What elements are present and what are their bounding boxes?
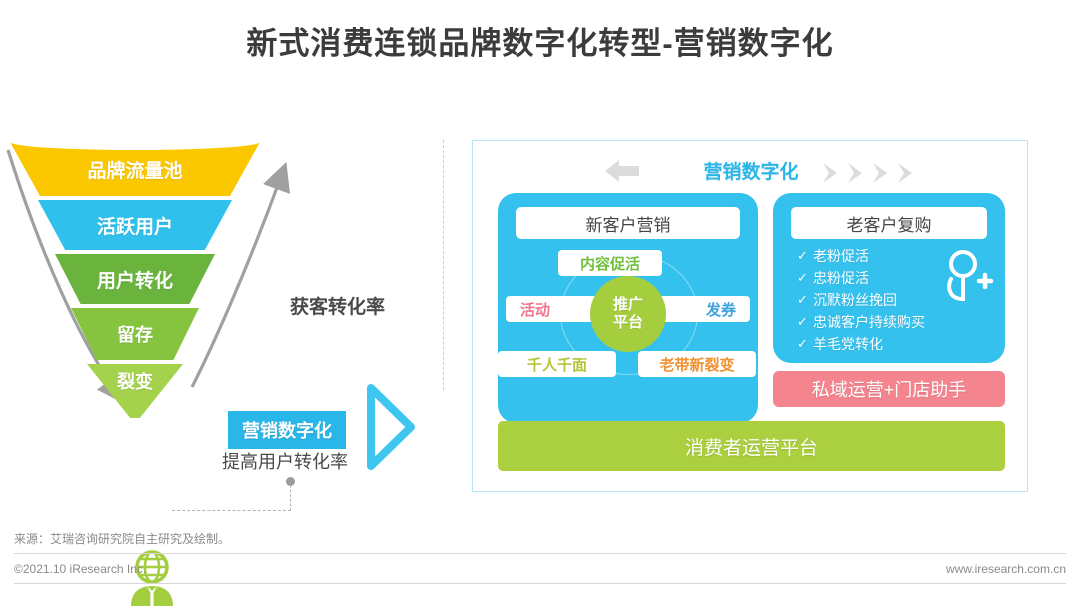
funnel-layer-brand-pool: 品牌流量池 xyxy=(10,142,260,196)
hub-line-1: 推广 xyxy=(613,296,643,314)
conversion-funnel: 品牌流量池 活跃用户 用户转化 留存 裂变 xyxy=(10,142,260,417)
list-item-label: 忠粉促活 xyxy=(813,268,869,288)
check-icon: ✓ xyxy=(797,292,813,308)
funnel-layer-retention: 留存 xyxy=(71,308,199,360)
list-item-label: 忠诚客户持续购买 xyxy=(813,312,925,332)
infographic-page: 新式消费连锁品牌数字化转型-营销数字化 品牌流量池 活跃用户 用户转化 留存 裂… xyxy=(0,0,1080,591)
connector-line-vertical xyxy=(290,485,291,511)
list-item: ✓ 老粉促活 xyxy=(797,245,925,267)
new-customer-marketing-card: 新客户营销 内容促活 活动 发券 千人千面 老带新裂变 推广 平台 xyxy=(498,193,758,423)
new-customer-header: 新客户营销 xyxy=(516,207,740,239)
consumer-operation-platform-bar: 消费者运营平台 xyxy=(498,421,1005,471)
chevron-row xyxy=(821,161,918,185)
section-divider xyxy=(443,140,444,390)
private-domain-bar: 私域运营+门店助手 xyxy=(773,371,1005,407)
footer-divider-top xyxy=(14,553,1066,554)
copyright-text: ©2021.10 iResearch Inc. xyxy=(14,562,146,576)
person-plus-icon xyxy=(937,247,995,314)
list-item-label: 老粉促活 xyxy=(813,246,869,266)
hub-line-2: 平台 xyxy=(613,314,643,332)
source-note: 来源：艾瑞咨询研究院自主研究及绘制。 xyxy=(14,530,230,547)
website-link[interactable]: www.iresearch.com.cn xyxy=(946,562,1066,576)
acquisition-rate-label: 获客转化率 xyxy=(290,292,385,319)
chevron-right-icon xyxy=(846,161,868,185)
globe-person-icon xyxy=(125,550,179,611)
marketing-digitization-badge: 营销数字化 xyxy=(228,411,346,449)
page-title: 新式消费连锁品牌数字化转型-营销数字化 xyxy=(0,18,1080,63)
check-icon: ✓ xyxy=(797,336,813,352)
list-item: ✓ 沉默粉丝挽回 xyxy=(797,289,925,311)
list-item: ✓ 忠诚客户持续购买 xyxy=(797,311,925,333)
old-customer-repurchase-card: 老客户复购 ✓ 老粉促活 ✓ 忠粉促活 ✓ 沉默粉丝挽回 ✓ 忠诚客户持续购买 xyxy=(773,193,1005,363)
check-icon: ✓ xyxy=(797,270,813,286)
panel-title: 营销数字化 xyxy=(473,157,1029,184)
chevron-right-icon xyxy=(896,161,918,185)
check-icon: ✓ xyxy=(797,248,813,264)
connector-line-horizontal xyxy=(172,510,291,511)
list-item: ✓ 忠粉促活 xyxy=(797,267,925,289)
improve-conversion-label: 提高用户转化率 xyxy=(222,448,348,474)
panel-header: 营销数字化 xyxy=(473,149,1029,183)
funnel-layer-user-conversion: 用户转化 xyxy=(55,254,215,304)
right-chevron-icon xyxy=(367,384,415,475)
funnel-layer-active-users: 活跃用户 xyxy=(38,200,232,250)
old-customer-header: 老客户复购 xyxy=(791,207,987,239)
check-icon: ✓ xyxy=(797,314,813,330)
chevron-right-icon xyxy=(821,161,843,185)
list-item-label: 沉默粉丝挽回 xyxy=(813,290,897,310)
funnel-section: 品牌流量池 活跃用户 用户转化 留存 裂变 获客转化率 营销数字化 提高用户转化… xyxy=(0,132,440,502)
footer-divider-bottom xyxy=(14,583,1066,584)
promotion-platform-hub: 推广 平台 xyxy=(590,276,666,352)
marketing-digitization-panel: 营销数字化 新客户营销 内容促活 活动 发券 千人千面 老带新裂变 推广 平台 xyxy=(472,140,1028,492)
list-item-label: 羊毛党转化 xyxy=(813,334,883,354)
list-item: ✓ 羊毛党转化 xyxy=(797,333,925,355)
chevron-right-icon xyxy=(871,161,893,185)
funnel-layer-fission: 裂变 xyxy=(87,364,183,418)
old-customer-checklist: ✓ 老粉促活 ✓ 忠粉促活 ✓ 沉默粉丝挽回 ✓ 忠诚客户持续购买 ✓ 羊毛 xyxy=(797,245,925,355)
